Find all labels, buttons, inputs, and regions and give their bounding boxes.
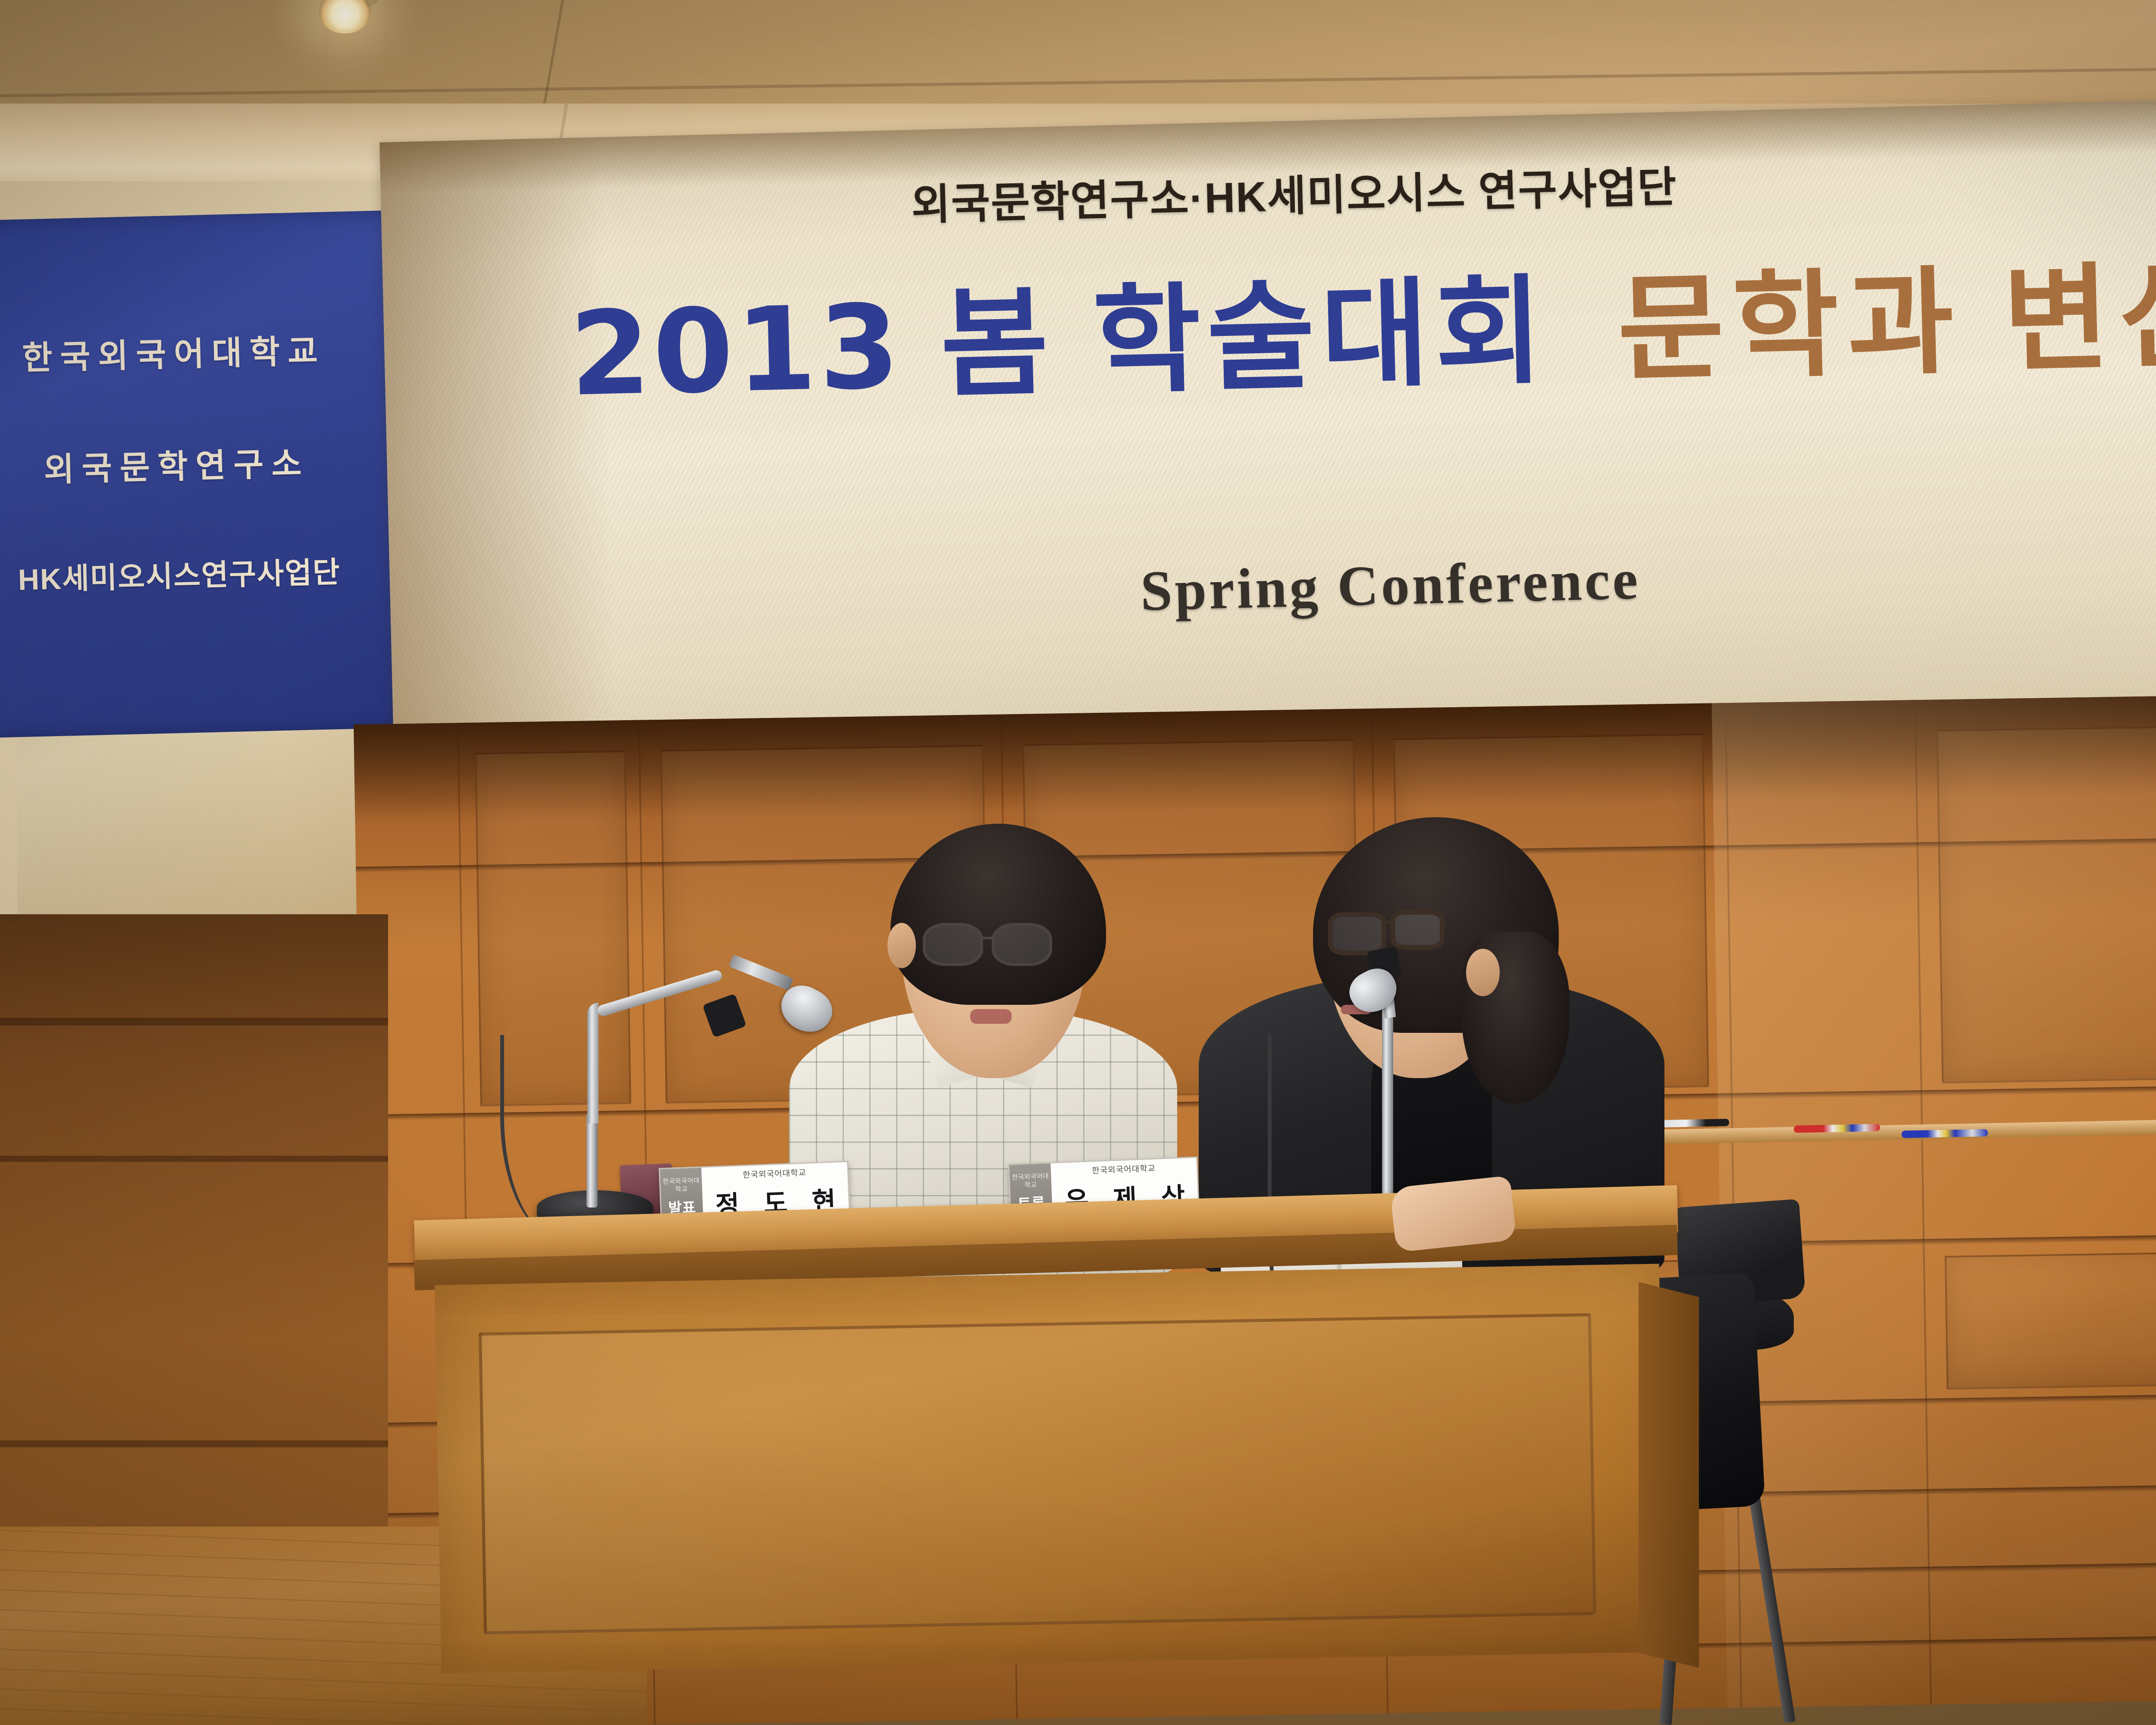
speaker-left-ear [887,923,916,968]
nameplate-left-institution: 한국외국어대학교 [743,1166,807,1180]
desk-front-panel [479,1313,1596,1634]
photo-scene: 한국외국어대학교 외국문학연구소 HK세미오시스연구사업단 외국문학연구소·HK… [0,0,2156,1725]
glasses-bridge [1384,921,1395,923]
left-wall-band [0,1440,388,1447]
speaker-right-hand [1390,1176,1517,1252]
speaker-left-mouth [970,1009,1012,1024]
banner-title-row: 2013 봄 학술대회 문학과 변신 [567,220,2156,429]
sign-line-project: HK세미오시스연구사업단 [18,548,341,599]
glasses-lens-left [923,923,983,966]
desk-side [1639,1282,1699,1668]
speaker-right-ear [1466,949,1500,996]
sign-line-university: 한국외국어대학교 [22,324,326,379]
banner-title-english: Spring Conference [1140,546,1641,624]
banner-title-blue: 봄 학술대회 [938,235,1551,420]
glasses-lens-right [992,923,1052,966]
panel-desk [414,1220,1677,1725]
left-wall-band [0,1018,388,1026]
conference-banner: 외국문학연구소·HK세미오시스 연구사업단 2013 봄 학술대회 문학과 변신… [379,89,2156,759]
banner-year: 2013 [568,280,903,422]
glasses-lens-left [1328,912,1386,955]
nameplate-right-role-institution: 한국외국어대학교 [1009,1172,1051,1190]
glasses-lens-right [1391,910,1445,950]
sign-line-institute: 외국문학연구소 [43,437,310,491]
left-wall-band [0,1156,388,1162]
glasses-bridge [982,937,993,939]
banner-shadow-left [379,137,618,759]
department-sign: 한국외국어대학교 외국문학연구소 HK세미오시스연구사업단 [0,210,412,739]
nameplate-right-institution: 한국외국어대학교 [1092,1162,1156,1176]
nameplate-left-role-institution: 한국외국어대학교 [660,1176,702,1194]
banner-title-brown: 문학과 변신 [1616,222,2156,404]
